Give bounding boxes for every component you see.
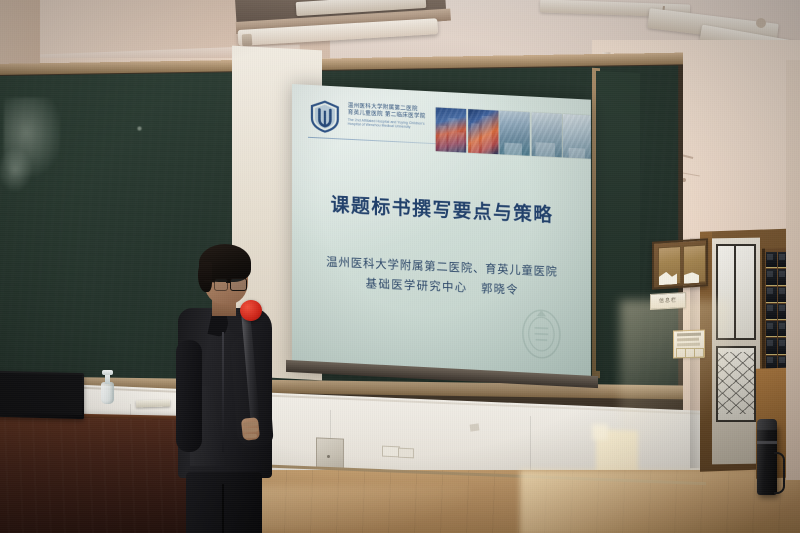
slide-vignette [292, 84, 591, 383]
lectern[interactable] [0, 416, 190, 533]
chalk-mark [137, 126, 141, 130]
cabinet-cell[interactable] [766, 338, 777, 354]
thermos-strap [774, 452, 785, 494]
presentation-slide: 温州医科大学附属第二医院 育英儿童医院 第二临床医学院 The 2nd Affi… [292, 84, 591, 383]
cabinet-cell[interactable] [766, 321, 777, 337]
power-outlet-2[interactable] [398, 448, 414, 459]
finger-3 [244, 434, 257, 438]
notice-cell [695, 349, 703, 357]
wall-scuff [470, 423, 480, 431]
lecture-hall-photo: 温州医科大学附属第二医院 育英儿童医院 第二临床医学院 The 2nd Affi… [0, 0, 800, 533]
wall-access-panel[interactable] [316, 437, 344, 470]
right-chalkboard-section [596, 71, 640, 373]
presenter-leg-gap [222, 484, 224, 533]
presenter-hair-side [198, 262, 212, 292]
notice-cell [686, 349, 695, 357]
bulletin-board[interactable] [652, 238, 708, 289]
wall-sign-text: 信息栏 [651, 293, 685, 309]
lectern-wood-grain [0, 416, 190, 533]
wall-sign-plate: 信息栏 [650, 292, 686, 310]
sanitizer-neck [105, 374, 110, 384]
glasses-lens-right [230, 278, 247, 291]
sunlight-highlight [592, 424, 608, 440]
notice-cell [677, 349, 686, 357]
presenter [176, 236, 286, 533]
notice-heading-line [677, 333, 701, 337]
jacket-zipper [222, 332, 224, 452]
thermos-cap[interactable] [757, 419, 777, 430]
access-panel-latch[interactable] [327, 455, 330, 458]
right-wall-column [786, 60, 800, 480]
notice-body-line-2 [677, 343, 700, 346]
presenter-left-arm [176, 340, 202, 452]
cabinet-cell[interactable] [766, 304, 777, 320]
cabinet-cell[interactable] [766, 287, 777, 303]
screen-roller-cap [242, 34, 253, 47]
chalk-smudge-secondary [0, 148, 32, 192]
corridor-window-upper [716, 244, 756, 340]
window-security-grille [718, 352, 754, 414]
sanitizer-pump[interactable] [102, 370, 113, 375]
projection-screen[interactable]: 温州医科大学附属第二医院 育英儿童医院 第二临床医学院 The 2nd Affi… [292, 84, 591, 383]
light-mount-knob [756, 18, 766, 28]
notice-body-line-1 [677, 338, 699, 341]
notice-table-grid [676, 348, 704, 358]
glasses-lens-left [214, 278, 228, 291]
thermos-band [757, 441, 777, 444]
window-mullion [734, 246, 736, 338]
glasses-bridge [226, 282, 231, 283]
hand-sanitizer-bottle[interactable] [101, 382, 114, 404]
papers-on-lectern[interactable] [136, 400, 170, 408]
monitor-screen [0, 373, 82, 415]
cabinet-cell[interactable] [766, 252, 777, 268]
cabinet-cell[interactable] [766, 269, 777, 285]
finger-2 [243, 428, 258, 433]
presenter-legs [186, 472, 262, 533]
